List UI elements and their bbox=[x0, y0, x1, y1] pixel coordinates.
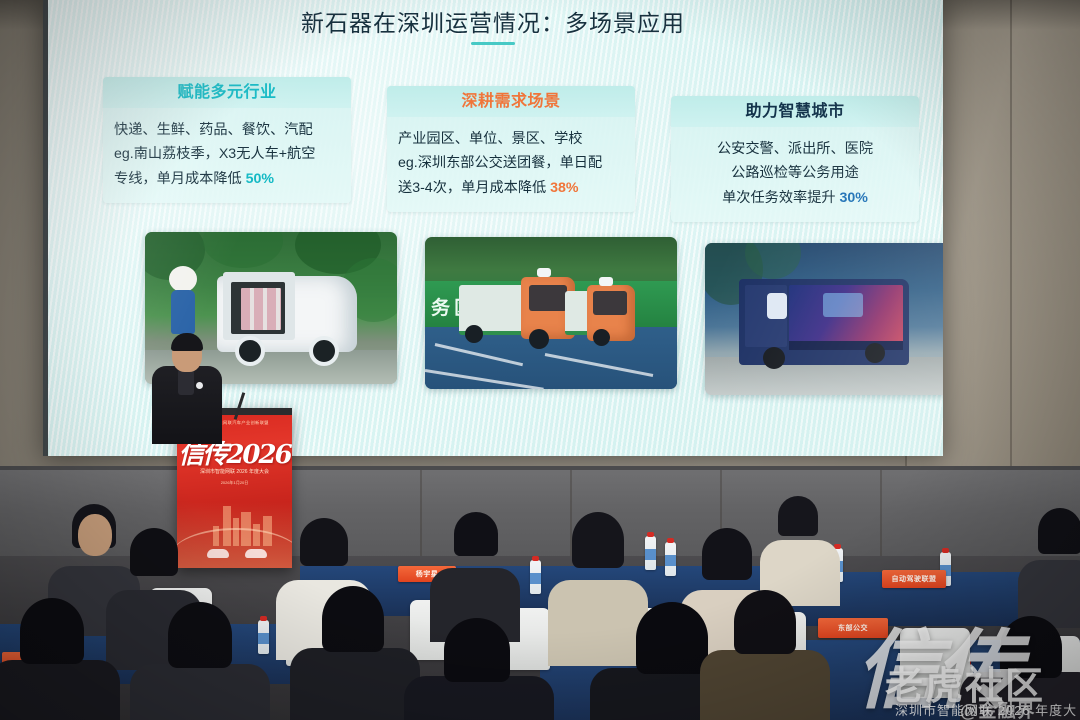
audience-chair bbox=[900, 628, 970, 698]
podium-car-art bbox=[207, 549, 229, 558]
water-bottle bbox=[258, 620, 269, 654]
nameplate-label: 东部公交 bbox=[838, 623, 868, 633]
speaker-badge bbox=[196, 382, 203, 389]
podium-sub-line: 深圳市智能网联 2026 年度大会 bbox=[177, 468, 292, 475]
table-nameplate: 东部公交 bbox=[818, 618, 888, 638]
screen-bezel bbox=[43, 0, 48, 456]
water-bottle bbox=[530, 560, 541, 594]
wall-seam bbox=[1010, 0, 1012, 470]
speaker-shirt bbox=[178, 369, 194, 395]
podium-date-line: 2026年1月20日 bbox=[177, 480, 292, 486]
screenshot-root: 新石器在深圳运营情况：多场景应用 赋能多元行业 快递、生鲜、药品、餐饮、汽配 e… bbox=[0, 0, 1080, 720]
nameplate-label: 自动驾驶联盟 bbox=[892, 574, 937, 584]
water-bottle bbox=[665, 542, 676, 576]
podium-car-art bbox=[245, 549, 267, 558]
water-bottle bbox=[645, 536, 656, 570]
table-nameplate: 自动驾驶联盟 bbox=[882, 570, 946, 588]
